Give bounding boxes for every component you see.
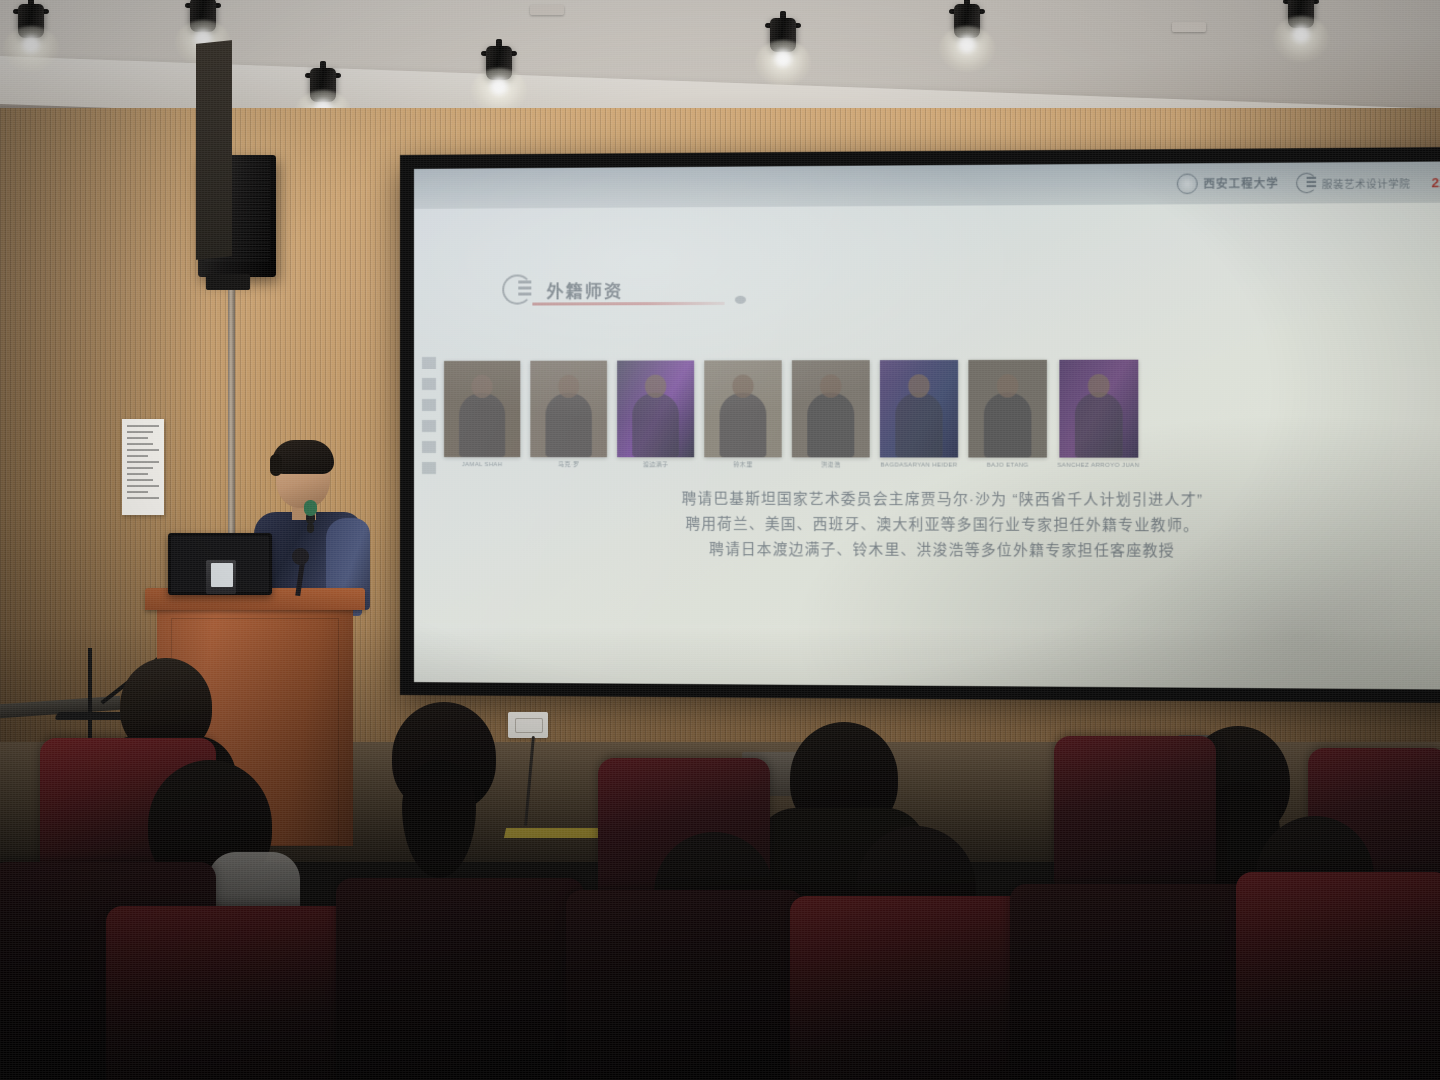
auditorium-seat [1236, 872, 1440, 1080]
university-name: 西安工程大学 [1203, 175, 1278, 192]
photo-subject-body [807, 392, 854, 457]
wall-notice-sheet [122, 419, 164, 515]
auditorium-seat [566, 890, 804, 1080]
faculty-photo-caption: 渡边满子 [643, 461, 669, 469]
faculty-photo [617, 360, 694, 457]
faculty-photo-item: 渡边满子 [617, 360, 694, 469]
faculty-photo-item: 马克·罗 [530, 361, 607, 470]
faculty-photo-caption: 洪浚浩 [821, 461, 840, 469]
faculty-photo [444, 361, 520, 457]
track-light-fixture [484, 46, 514, 88]
auditorium-seat [1010, 884, 1250, 1080]
photo-subject-head [472, 375, 493, 398]
audience-area [0, 640, 1440, 1080]
photo-subject-head [732, 374, 753, 397]
track-light-fixture [1286, 0, 1316, 36]
photo-subject-body [984, 392, 1032, 457]
track-light-glow [1273, 16, 1329, 62]
speaker-mount [206, 274, 250, 290]
photo-subject-body [632, 393, 679, 457]
faculty-photo-item: BAGDASARYAN HEIDER [880, 360, 958, 470]
photo-subject-body [545, 393, 591, 457]
presenter-hair [272, 440, 334, 474]
track-light-glow [755, 40, 811, 86]
college-logo: 服装艺术设计学院 [1296, 172, 1411, 193]
faculty-photo-caption: BAJO ETANG [987, 461, 1029, 469]
faculty-photo [704, 360, 781, 457]
auditorium-scene: 西安工程大学 服装艺术设计学院 21 外籍师资 [0, 0, 1440, 1080]
faculty-photo-caption: JAMAL SHAH [462, 461, 503, 469]
lectern-side-panel [196, 40, 232, 260]
college-name: 服装艺术设计学院 [1322, 175, 1411, 191]
slide-page-number: 21 [1427, 174, 1440, 190]
presentation-slide: 西安工程大学 服装艺术设计学院 21 外籍师资 [414, 161, 1440, 689]
photo-subject-head [820, 374, 841, 397]
photo-subject-body [720, 393, 767, 458]
faculty-photo-row: JAMAL SHAH马克·罗渡边满子铃木里洪浚浩BAGDASARYAN HEID… [444, 336, 1440, 470]
faculty-photo-item: SANCHEZ ARROYO JUAN [1057, 360, 1139, 470]
faculty-photo [968, 360, 1047, 458]
university-logo: 西安工程大学 [1176, 173, 1278, 194]
filmstrip-decoration [422, 357, 436, 507]
circle-bars-logo-icon [502, 274, 532, 304]
faculty-photo-item: 洪浚浩 [792, 360, 870, 470]
faculty-photo-caption: BAGDASARYAN HEIDER [881, 461, 958, 469]
faculty-photo [530, 361, 607, 458]
track-light-fixture [768, 18, 798, 60]
slide-title: 外籍师资 [546, 277, 623, 302]
gooseneck-microphone-head [292, 548, 309, 565]
photo-subject-body [1074, 392, 1122, 457]
track-light-glow [939, 26, 995, 72]
track-light-fixture [188, 0, 218, 40]
faculty-photo-caption: 马克·罗 [558, 461, 579, 469]
photo-subject-head [645, 375, 666, 398]
photo-subject-head [1087, 374, 1109, 397]
slide-body-text: 聘请巴基斯坦国家艺术委员会主席贾马尔·沙为 “陕西省千人计划引进人才”聘用荷兰、… [484, 487, 1409, 566]
audience-hair [402, 760, 476, 878]
projection-screen: 西安工程大学 服装艺术设计学院 21 外籍师资 [400, 147, 1440, 703]
photo-subject-head [997, 374, 1019, 397]
university-seal-icon [1176, 174, 1197, 195]
faculty-photo-caption: 铃木里 [733, 461, 752, 469]
photo-subject-body [895, 392, 942, 457]
faculty-photo-item: 铃木里 [704, 360, 781, 469]
auditorium-seat [106, 906, 352, 1080]
auditorium-seat [336, 878, 584, 1080]
track-light-fixture [952, 4, 982, 46]
photo-subject-head [908, 374, 930, 397]
track-light-glow [3, 26, 59, 72]
handheld-microphone [304, 500, 317, 516]
slide-top-branding-bar: 西安工程大学 服装艺术设计学院 21 [414, 161, 1440, 208]
photo-subject-body [459, 393, 505, 457]
monitor-control-panel [211, 563, 233, 587]
photo-subject-head [558, 375, 579, 398]
slide-title-underline [532, 302, 724, 306]
slide-body-line: 聘用荷兰、美国、西班牙、澳大利亚等多国行业专家担任外籍专业教师。 [484, 512, 1409, 540]
faculty-photo-caption: SANCHEZ ARROYO JUAN [1057, 462, 1139, 470]
faculty-photo-item: JAMAL SHAH [444, 361, 520, 469]
track-light-fixture [16, 4, 46, 46]
slide-title-dot-accent [735, 296, 746, 304]
ceiling-vent [1172, 22, 1206, 32]
slide-header: 外籍师资 [502, 274, 623, 305]
faculty-photo-item: BAJO ETANG [968, 360, 1047, 470]
slide-body-line: 聘请日本渡边满子、铃木里、洪浚浩等多位外籍专家担任客座教授 [484, 537, 1409, 566]
slide-body-line: 聘请巴基斯坦国家艺术委员会主席贾马尔·沙为 “陕西省千人计划引进人才” [484, 487, 1409, 514]
circle-bars-logo-icon [1296, 173, 1317, 194]
track-light-fixture [308, 68, 338, 110]
faculty-photo [1059, 360, 1138, 458]
screen-surface: 西安工程大学 服装艺术设计学院 21 外籍师资 [414, 161, 1440, 689]
ceiling-vent [530, 5, 564, 15]
faculty-photo [880, 360, 958, 457]
auditorium-seat [790, 896, 1030, 1080]
faculty-photo [792, 360, 870, 457]
auditorium-seat [1054, 736, 1216, 886]
